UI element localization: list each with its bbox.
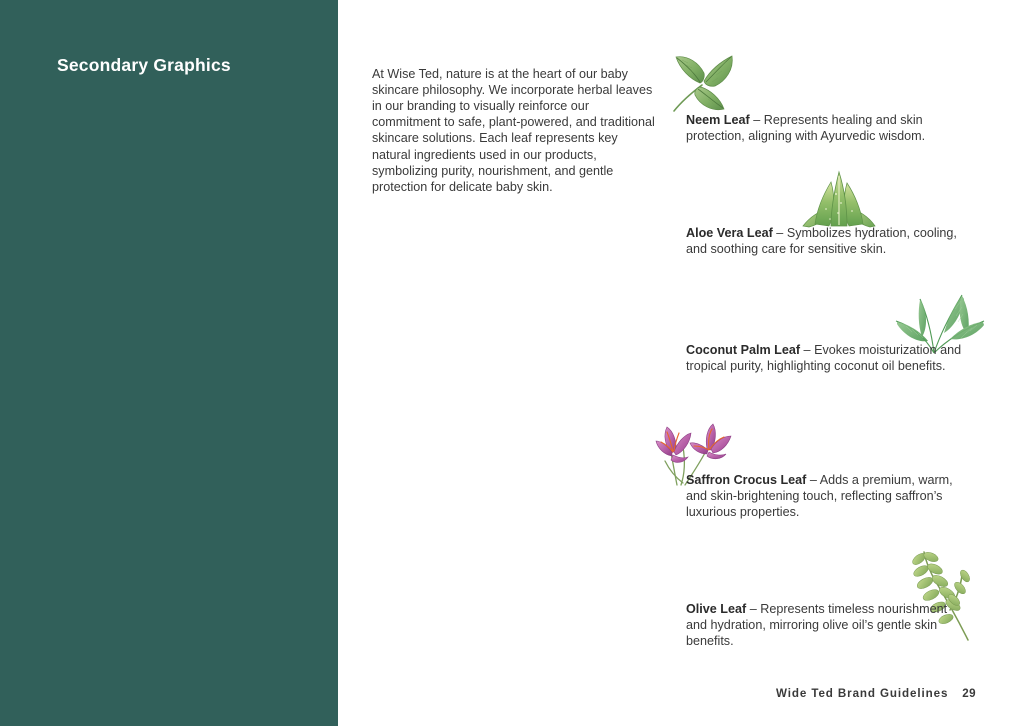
leaf-separator: – bbox=[746, 602, 760, 616]
leaf-name: Coconut Palm Leaf bbox=[686, 343, 800, 357]
footer: Wide Ted Brand Guidelines 29 bbox=[776, 687, 976, 700]
leaf-separator: – bbox=[806, 473, 819, 487]
leaf-name: Aloe Vera Leaf bbox=[686, 226, 773, 240]
leaf-separator: – bbox=[773, 226, 787, 240]
leaf-caption: Aloe Vera Leaf – Symbolizes hydration, c… bbox=[686, 225, 968, 257]
neem-leaf-illustration bbox=[666, 43, 740, 115]
leaf-separator: – bbox=[800, 343, 814, 357]
content-area: At Wise Ted, nature is at the heart of o… bbox=[338, 0, 1024, 726]
aloe-vera-leaf-illustration bbox=[795, 168, 883, 230]
leaf-name: Olive Leaf bbox=[686, 602, 746, 616]
footer-page-number: 29 bbox=[962, 687, 976, 700]
sidebar-panel: Secondary Graphics bbox=[0, 0, 338, 726]
page-title: Secondary Graphics bbox=[57, 55, 231, 76]
leaf-name: Neem Leaf bbox=[686, 113, 750, 127]
leaf-caption: Coconut Palm Leaf – Evokes moisturizatio… bbox=[686, 342, 976, 374]
leaf-list: Neem Leaf – Represents healing and skin … bbox=[338, 0, 1024, 726]
leaf-separator: – bbox=[750, 113, 764, 127]
footer-brand-line: Wide Ted Brand Guidelines bbox=[776, 687, 948, 700]
leaf-caption: Saffron Crocus Leaf – Adds a premium, wa… bbox=[686, 472, 976, 521]
leaf-caption: Olive Leaf – Represents timeless nourish… bbox=[686, 601, 971, 650]
leaf-caption: Neem Leaf – Represents healing and skin … bbox=[686, 112, 968, 144]
leaf-name: Saffron Crocus Leaf bbox=[686, 473, 806, 487]
